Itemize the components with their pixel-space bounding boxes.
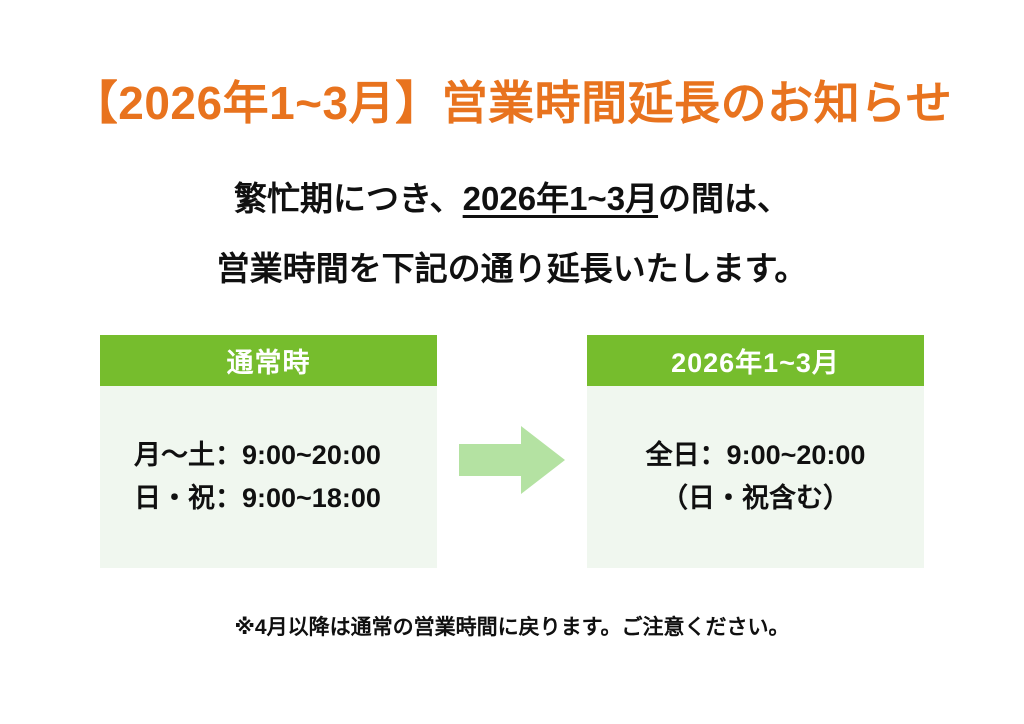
- page-title: 【2026年1~3月】営業時間延長のお知らせ: [0, 76, 1024, 131]
- schedule-card-normal-header: 通常時: [100, 335, 437, 386]
- schedule-row: 月〜土：9:00~20:00: [114, 440, 423, 471]
- footnote-text: ※4月以降は通常の営業時間に戻ります。ご注意ください。: [0, 611, 1024, 641]
- schedule-card-normal-body: 月〜土：9:00~20:00 日・祝：9:00~18:00: [100, 386, 437, 568]
- schedule-row: （日・祝含む）: [601, 483, 910, 514]
- lead-text-line-2: 営業時間を下記の通り延長いたします。: [0, 248, 1024, 289]
- schedule-row: 日・祝：9:00~18:00: [114, 483, 423, 514]
- arrow-right-icon: [459, 424, 567, 496]
- announcement-poster: 【2026年1~3月】営業時間延長のお知らせ 繁忙期につき、2026年1~3月の…: [0, 0, 1024, 724]
- lead-line1-before: 繁忙期につき、: [234, 180, 463, 217]
- lead-text-line-1: 繁忙期につき、2026年1~3月の間は、: [0, 178, 1024, 219]
- schedule-card-normal: 通常時 月〜土：9:00~20:00 日・祝：9:00~18:00: [100, 335, 437, 568]
- schedule-row: 全日：9:00~20:00: [601, 440, 910, 471]
- schedule-card-extended-body: 全日：9:00~20:00 （日・祝含む）: [587, 386, 924, 568]
- lead-line1-after: の間は、: [658, 180, 790, 217]
- schedule-card-extended: 2026年1~3月 全日：9:00~20:00 （日・祝含む）: [587, 335, 924, 568]
- lead-line1-highlight-period: 2026年1~3月: [463, 180, 658, 217]
- schedule-card-extended-header: 2026年1~3月: [587, 335, 924, 386]
